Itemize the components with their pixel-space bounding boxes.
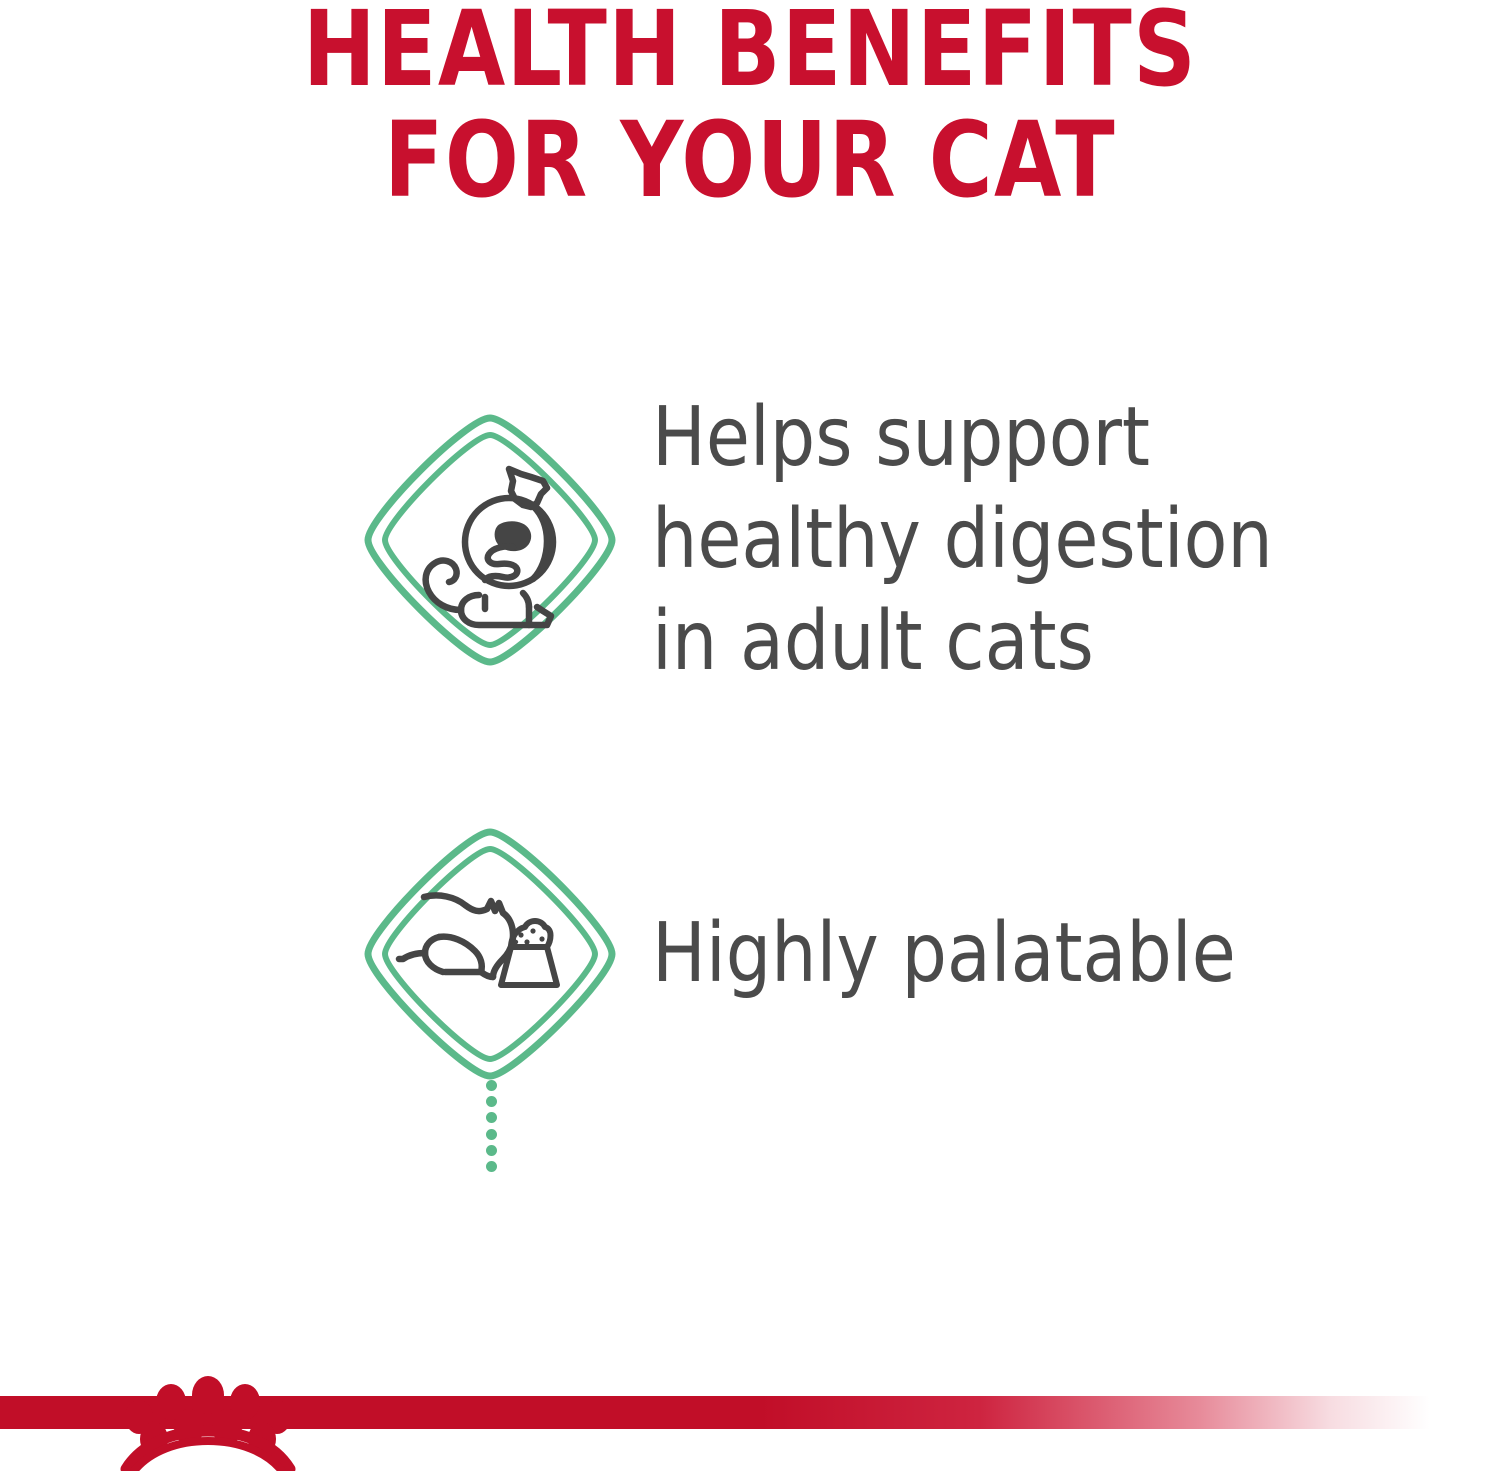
connector-dot	[486, 1129, 497, 1140]
benefit-icon-cell	[340, 794, 640, 1114]
benefit-item-palatable: Highly palatable	[0, 794, 1500, 1114]
benefit-icon-cell	[340, 380, 640, 700]
royal-canin-crown-logo	[108, 1371, 318, 1471]
page-title-line-1: HEALTH BENEFITS	[53, 0, 1448, 105]
connector-dot	[486, 1145, 497, 1156]
benefit-label-cell: Helps support healthy digestion in adult…	[640, 387, 1500, 693]
benefits-list: Helps support healthy digestion in adult…	[0, 380, 1500, 1114]
cat-digestion-icon	[361, 411, 619, 669]
footer	[0, 1371, 1500, 1471]
page-title-line-2: FOR YOUR CAT	[53, 105, 1448, 216]
cat-eating-bowl-icon	[361, 825, 619, 1083]
benefit-label: Helps support healthy digestion in adult…	[652, 387, 1475, 693]
benefit-label: Highly palatable	[652, 903, 1475, 1005]
benefit-label-cell: Highly palatable	[640, 903, 1500, 1005]
connector-dot	[486, 1161, 497, 1172]
connector-dot	[486, 1112, 497, 1123]
benefit-item-digestion: Helps support healthy digestion in adult…	[0, 380, 1500, 700]
page-title: HEALTH BENEFITS FOR YOUR CAT	[0, 0, 1500, 216]
